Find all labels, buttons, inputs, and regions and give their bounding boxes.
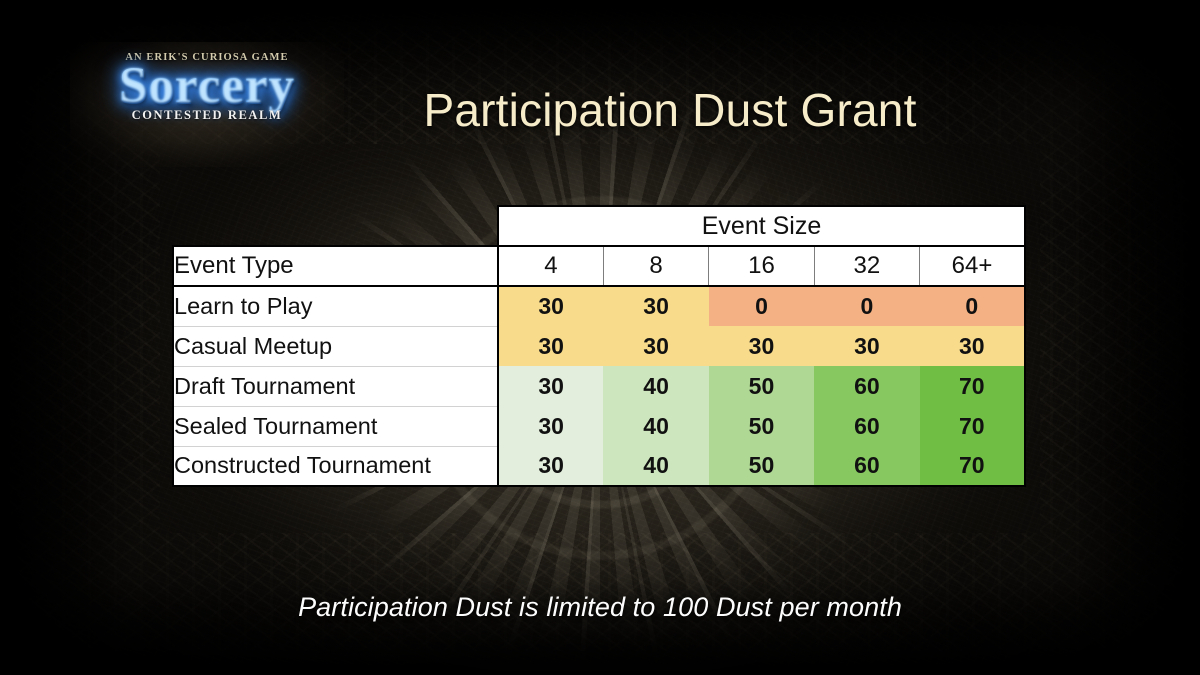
row-label-constructed-tournament: Constructed Tournament	[173, 446, 498, 486]
cell-sealed-tournament-64plus: 70	[920, 406, 1025, 446]
slide-canvas: An Erik's Curiosa Game Sorcery Contested…	[0, 0, 1200, 675]
event-size-group-header: Event Size	[498, 206, 1025, 246]
size-header-16: 16	[709, 246, 814, 286]
event-type-header: Event Type	[173, 246, 498, 286]
logo-subtitle: Contested Realm	[78, 108, 336, 123]
dust-grant-table-wrapper: Event Size Event Type 4 8 16 32 64+ Lear…	[172, 205, 1024, 487]
cell-constructed-tournament-32: 60	[814, 446, 919, 486]
cell-draft-tournament-4: 30	[498, 366, 603, 406]
cell-sealed-tournament-4: 30	[498, 406, 603, 446]
cell-draft-tournament-32: 60	[814, 366, 919, 406]
cell-draft-tournament-64plus: 70	[920, 366, 1025, 406]
cell-learn-to-play-8: 30	[603, 286, 708, 326]
cell-casual-meetup-16: 30	[709, 326, 814, 366]
table-row: Sealed Tournament 30 40 50 60 70	[173, 406, 1025, 446]
cell-learn-to-play-16: 0	[709, 286, 814, 326]
table-row: Learn to Play 30 30 0 0 0	[173, 286, 1025, 326]
table-group-header-row: Event Size	[173, 206, 1025, 246]
cell-casual-meetup-4: 30	[498, 326, 603, 366]
logo-wordmark: Sorcery	[78, 60, 336, 112]
cell-sealed-tournament-8: 40	[603, 406, 708, 446]
row-label-sealed-tournament: Sealed Tournament	[173, 406, 498, 446]
sorcery-logo: An Erik's Curiosa Game Sorcery Contested…	[78, 52, 336, 157]
dust-grant-table: Event Size Event Type 4 8 16 32 64+ Lear…	[172, 205, 1026, 487]
footer-note: Participation Dust is limited to 100 Dus…	[0, 592, 1200, 623]
cell-casual-meetup-8: 30	[603, 326, 708, 366]
cell-constructed-tournament-64plus: 70	[920, 446, 1025, 486]
table-row: Draft Tournament 30 40 50 60 70	[173, 366, 1025, 406]
cell-draft-tournament-8: 40	[603, 366, 708, 406]
cell-learn-to-play-4: 30	[498, 286, 603, 326]
page-title: Participation Dust Grant	[390, 77, 950, 143]
cell-learn-to-play-64plus: 0	[920, 286, 1025, 326]
cell-sealed-tournament-16: 50	[709, 406, 814, 446]
cell-learn-to-play-32: 0	[814, 286, 919, 326]
size-header-32: 32	[814, 246, 919, 286]
cell-sealed-tournament-32: 60	[814, 406, 919, 446]
size-header-8: 8	[603, 246, 708, 286]
cell-casual-meetup-32: 30	[814, 326, 919, 366]
corner-spacer-cell	[173, 206, 498, 246]
table-row: Casual Meetup 30 30 30 30 30	[173, 326, 1025, 366]
cell-constructed-tournament-4: 30	[498, 446, 603, 486]
row-label-draft-tournament: Draft Tournament	[173, 366, 498, 406]
table-column-header-row: Event Type 4 8 16 32 64+	[173, 246, 1025, 286]
row-label-casual-meetup: Casual Meetup	[173, 326, 498, 366]
row-label-learn-to-play: Learn to Play	[173, 286, 498, 326]
cell-draft-tournament-16: 50	[709, 366, 814, 406]
cell-constructed-tournament-8: 40	[603, 446, 708, 486]
table-body: Event Size Event Type 4 8 16 32 64+ Lear…	[173, 206, 1025, 486]
cell-constructed-tournament-16: 50	[709, 446, 814, 486]
table-row: Constructed Tournament 30 40 50 60 70	[173, 446, 1025, 486]
size-header-64plus: 64+	[920, 246, 1025, 286]
cell-casual-meetup-64plus: 30	[920, 326, 1025, 366]
size-header-4: 4	[498, 246, 603, 286]
